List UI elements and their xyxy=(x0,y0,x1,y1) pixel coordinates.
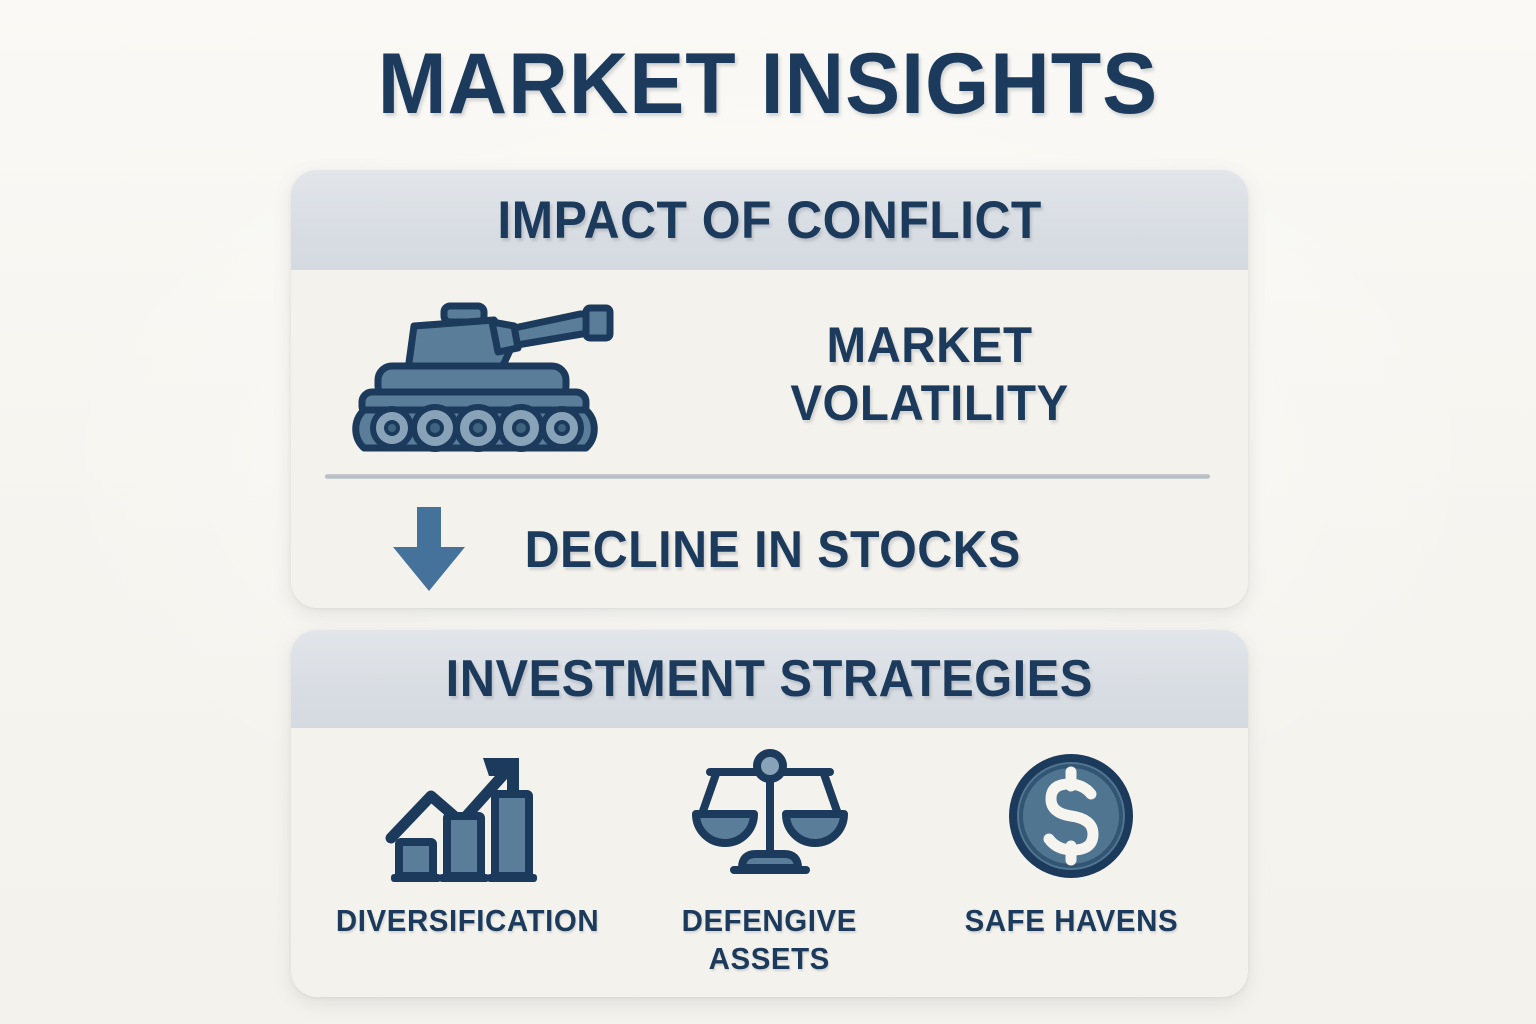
strategy-item-defensive-assets: DEFENGIVE ASSETS xyxy=(619,746,921,995)
strategy-label-defensive-assets: DEFENGIVE ASSETS xyxy=(682,902,857,978)
card-header-impact-of-conflict: IMPACT OF CONFLICT xyxy=(291,170,1248,270)
card-header-title: IMPACT OF CONFLICT xyxy=(497,190,1041,251)
strategy-item-safe-havens: SAFE HAVENS xyxy=(920,746,1222,995)
card-body-investment-strategies: DIVERSIFICATION xyxy=(291,728,1248,995)
card-impact-of-conflict: IMPACT OF CONFLICT xyxy=(291,170,1248,608)
down-arrow-container xyxy=(291,507,506,593)
down-arrow-icon xyxy=(391,507,467,593)
card-header-investment-strategies: INVESTMENT STRATEGIES xyxy=(291,630,1248,728)
strategy-label-safe-havens: SAFE HAVENS xyxy=(964,902,1178,940)
volatility-text-block: MARKET VOLATILITY xyxy=(651,316,1248,432)
bar-chart-growth-icon xyxy=(385,746,551,886)
page-title: MARKET INSIGHTS xyxy=(31,36,1506,132)
tank-icon-container xyxy=(291,292,651,456)
strategy-item-diversification: DIVERSIFICATION xyxy=(317,746,619,995)
strategy-grid: DIVERSIFICATION xyxy=(291,728,1248,995)
strategy-label-line-1: DEFENGIVE xyxy=(682,903,857,938)
dollar-coin-icon-container xyxy=(1005,746,1137,886)
tank-icon xyxy=(348,292,624,456)
conflict-top-row: MARKET VOLATILITY xyxy=(291,270,1248,478)
decline-in-stocks-text: DECLINE IN STOCKS xyxy=(525,520,1021,580)
balance-scales-icon-container xyxy=(690,746,850,886)
bar-chart-growth-icon-container xyxy=(385,746,551,886)
card-header-title: INVESTMENT STRATEGIES xyxy=(446,649,1093,709)
volatility-line-1: MARKET xyxy=(665,316,1194,374)
card-divider xyxy=(325,474,1210,479)
card-investment-strategies: INVESTMENT STRATEGIES xyxy=(291,630,1248,997)
decline-row: DECLINE IN STOCKS xyxy=(291,495,1248,605)
card-body-impact-of-conflict: MARKET VOLATILITY DECLINE IN STOCKS xyxy=(291,270,1248,608)
dollar-coin-icon xyxy=(1005,750,1137,882)
strategy-label-diversification: DIVERSIFICATION xyxy=(336,902,599,940)
balance-scales-icon xyxy=(690,746,850,886)
volatility-line-2: VOLATILITY xyxy=(665,374,1194,432)
strategy-label-line-2: ASSETS xyxy=(709,941,830,976)
infographic-canvas: MARKET INSIGHTS IMPACT OF CONFLICT xyxy=(0,0,1536,1024)
